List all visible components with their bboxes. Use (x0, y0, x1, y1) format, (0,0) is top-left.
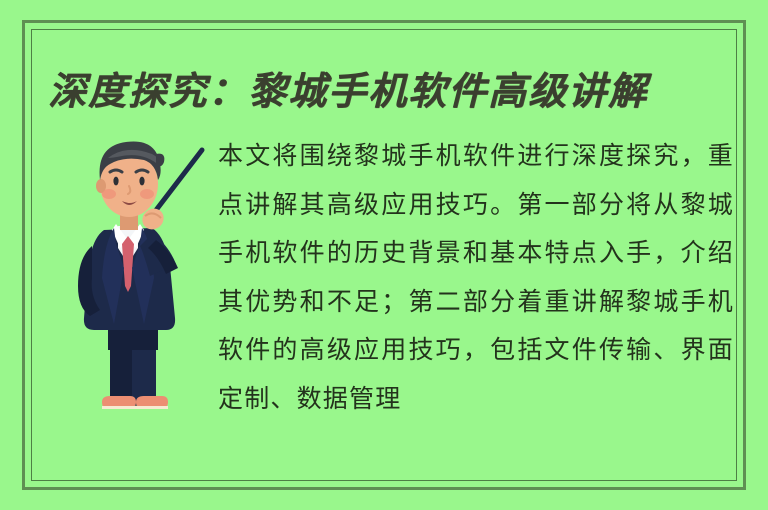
illustration-svg (52, 118, 220, 418)
page-title: 深度探究：黎城手机软件高级讲解 (48, 62, 720, 120)
poster-canvas: 深度探究：黎城手机软件高级讲解 本文将围绕黎城手机软件进行深度探究，重点讲解其高… (0, 0, 768, 510)
businessman-with-pointer-illustration (52, 118, 220, 418)
suit-jacket-shape (78, 224, 175, 330)
body-paragraph: 本文将围绕黎城手机软件进行深度探究，重点讲解其高级应用技巧。第一部分将从黎城手机… (218, 132, 734, 423)
